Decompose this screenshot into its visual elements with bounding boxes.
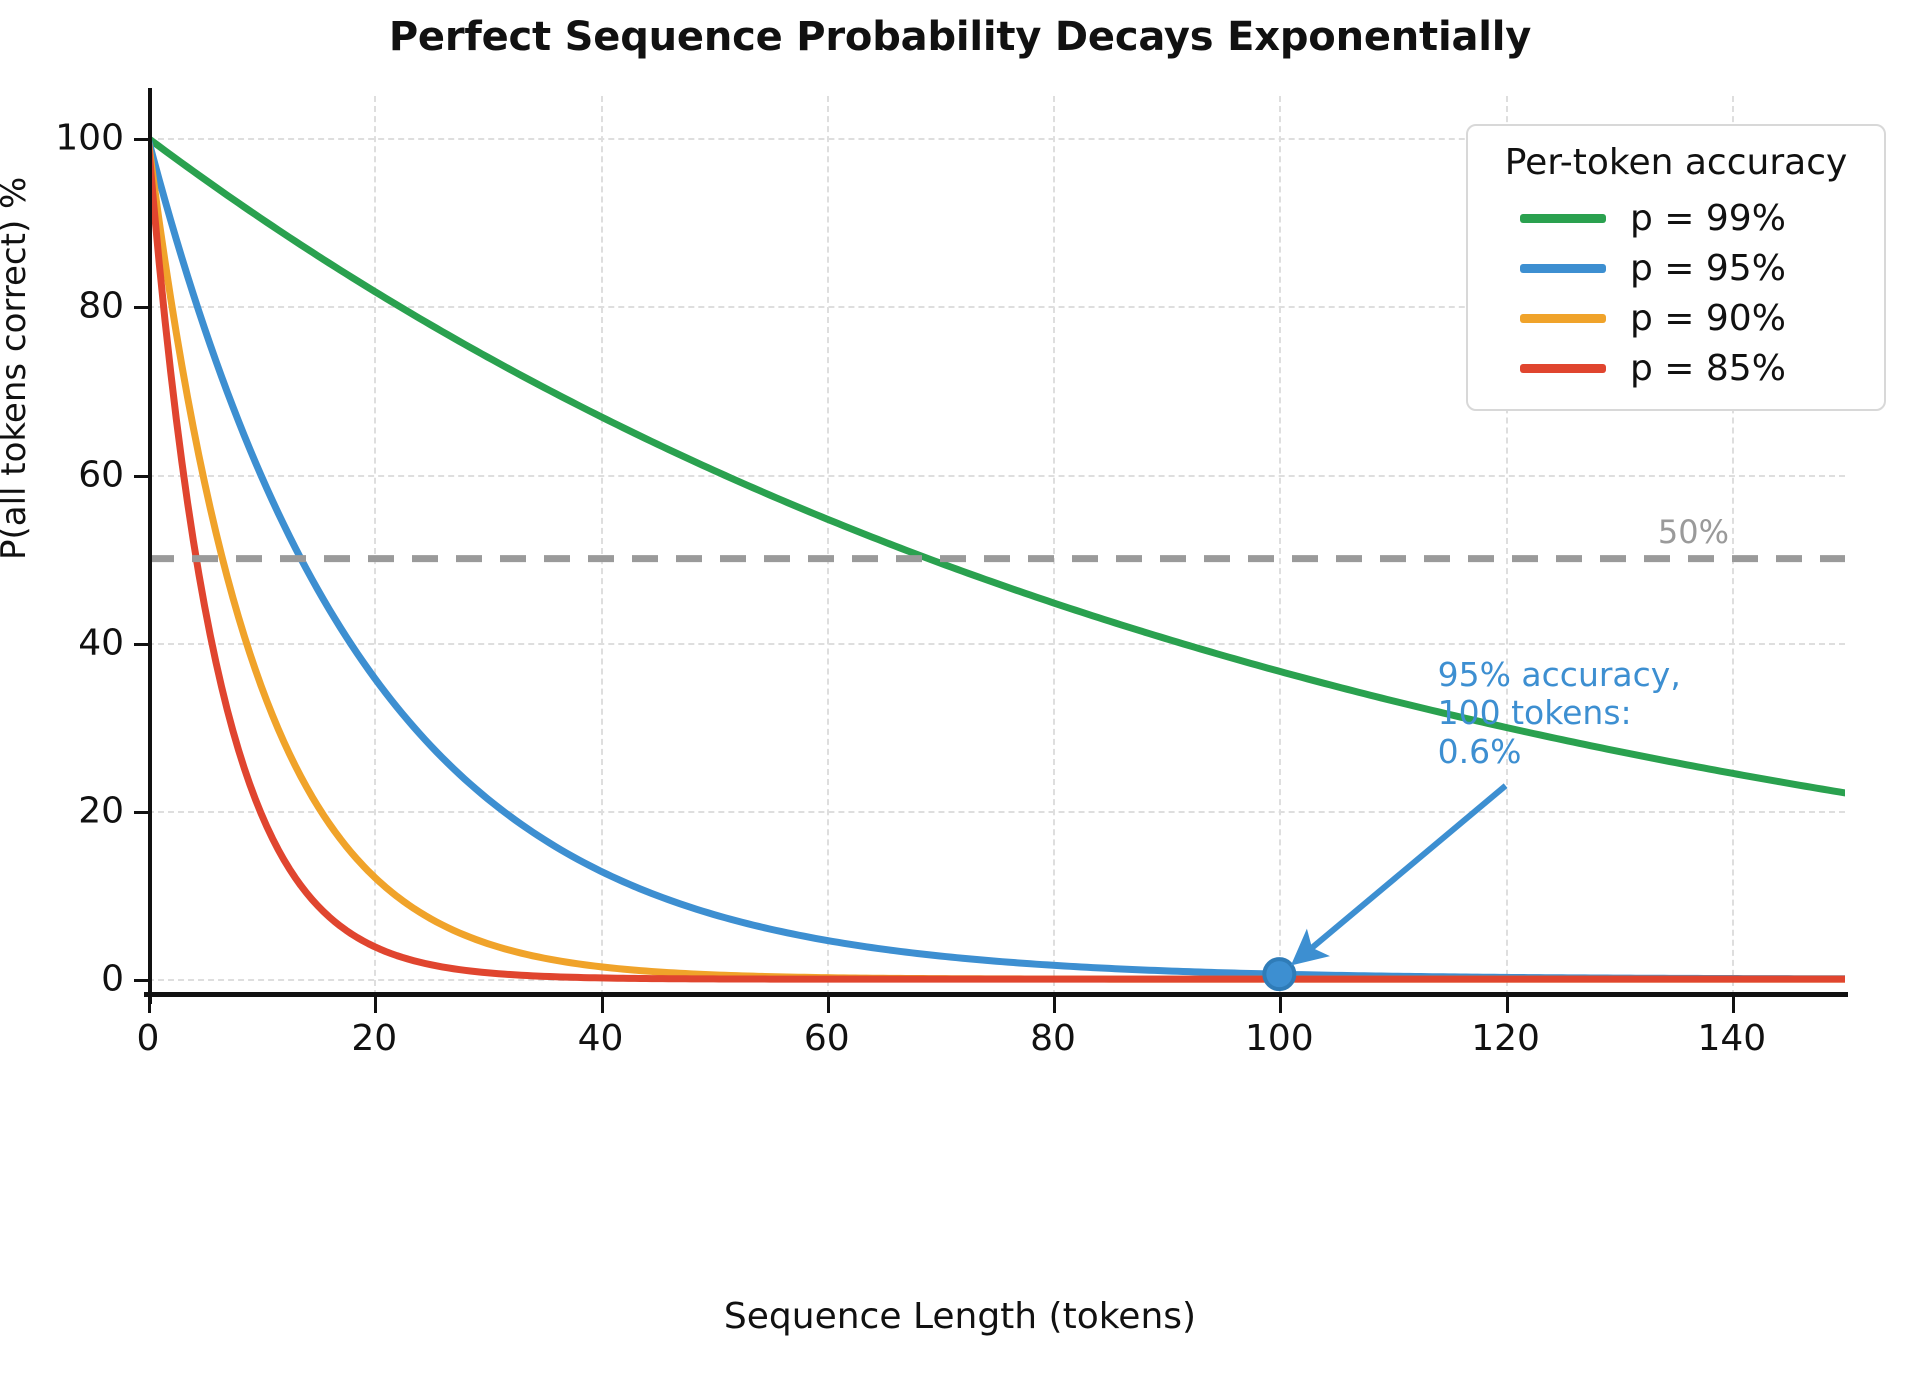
x-tick-label: 120 (1436, 1018, 1576, 1059)
y-tick-mark (134, 138, 148, 141)
y-tick-mark (134, 811, 148, 814)
x-tick-mark (1732, 997, 1735, 1013)
legend-item-label: p = 99% (1630, 198, 1786, 239)
reference-line-label: 50% (1658, 513, 1729, 551)
y-tick-mark (134, 643, 148, 646)
x-tick-label: 0 (78, 1018, 218, 1059)
legend-item-label: p = 85% (1630, 348, 1786, 389)
y-tick-label: 40 (0, 622, 124, 663)
x-tick-mark (601, 997, 604, 1013)
x-tick-mark (374, 997, 377, 1013)
y-axis-line (148, 88, 152, 1004)
x-tick-label: 100 (1209, 1018, 1349, 1059)
x-tick-mark (1053, 997, 1056, 1013)
y-tick-mark (134, 306, 148, 309)
legend-item-label: p = 95% (1630, 248, 1786, 289)
legend-color-swatch (1520, 364, 1606, 373)
chart-canvas: Perfect Sequence Probability Decays Expo… (0, 0, 1920, 1380)
y-tick-mark (134, 979, 148, 982)
y-tick-label: 100 (0, 118, 124, 159)
legend-color-swatch (1520, 264, 1606, 273)
x-tick-label: 140 (1662, 1018, 1802, 1059)
x-tick-label: 80 (983, 1018, 1123, 1059)
x-tick-label: 40 (531, 1018, 671, 1059)
x-tick-label: 60 (757, 1018, 897, 1059)
y-axis-title: P(all tokens correct) % (0, 177, 34, 560)
x-axis-title: Sequence Length (tokens) (0, 1296, 1920, 1337)
legend-item[interactable]: p = 95% (1486, 243, 1866, 293)
x-tick-mark (148, 997, 151, 1013)
legend-title: Per-token accuracy (1486, 142, 1866, 183)
y-tick-label: 20 (0, 790, 124, 831)
legend-item[interactable]: p = 90% (1486, 293, 1866, 343)
marker-point (1264, 959, 1294, 989)
legend-items: p = 99%p = 95%p = 90%p = 85% (1486, 193, 1866, 393)
chart-title: Perfect Sequence Probability Decays Expo… (0, 14, 1920, 60)
y-tick-mark (134, 475, 148, 478)
legend: Per-token accuracy p = 99%p = 95%p = 90%… (1466, 124, 1886, 411)
annotation-text: 95% accuracy, 100 tokens: 0.6% (1438, 656, 1681, 772)
x-tick-label: 20 (304, 1018, 444, 1059)
x-axis-line (144, 992, 1848, 997)
x-tick-mark (827, 997, 830, 1013)
x-tick-mark (1506, 997, 1509, 1013)
legend-color-swatch (1520, 314, 1606, 323)
legend-color-swatch (1520, 214, 1606, 223)
legend-item-label: p = 90% (1630, 298, 1786, 339)
y-tick-label: 0 (0, 959, 124, 1000)
legend-item[interactable]: p = 85% (1486, 343, 1866, 393)
x-tick-mark (1279, 997, 1282, 1013)
legend-item[interactable]: p = 99% (1486, 193, 1866, 243)
annotation-arrow (1297, 786, 1505, 960)
